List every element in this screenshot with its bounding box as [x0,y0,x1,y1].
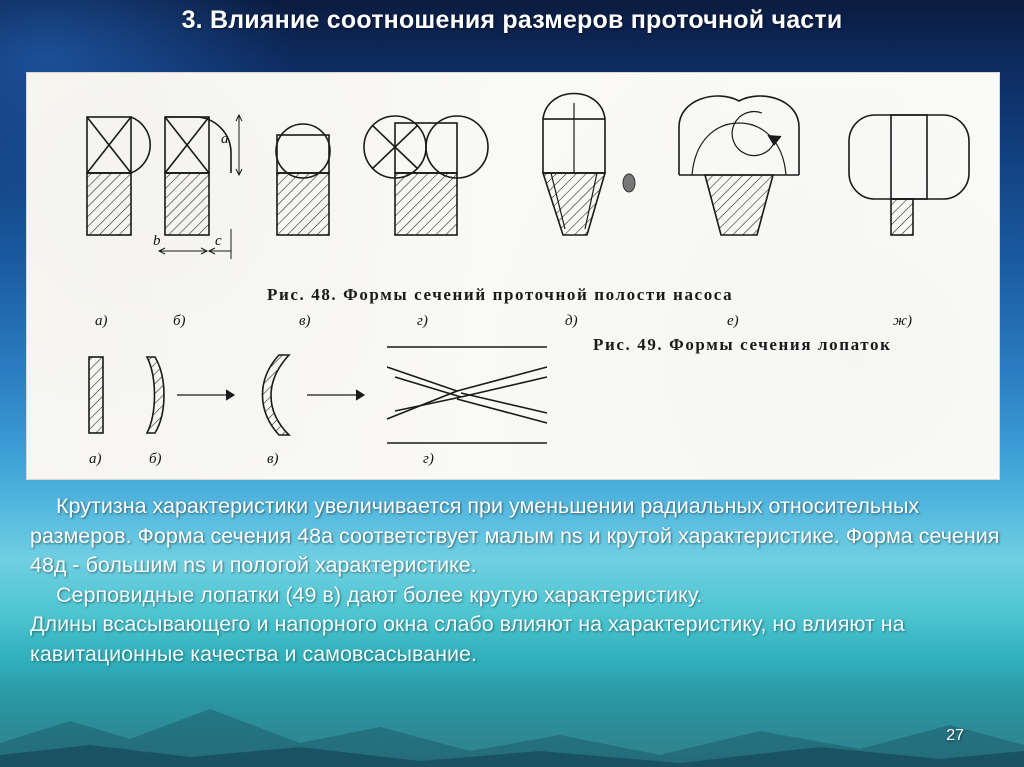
dimension-label-a: a [221,131,229,148]
page-number: 27 [946,727,964,745]
dimension-label-c: c [215,233,222,250]
fig49-label-a: а) [89,451,102,468]
fig48-label-v: в) [299,313,311,330]
page-title: 3. Влияние соотношения размеров проточно… [0,6,1024,35]
figure-48-caption: Рис. 48. Формы сечений проточной полости… [267,285,733,305]
fig48-label-a: а) [95,313,108,330]
slide-root: 3. Влияние соотношения размеров проточно… [0,0,1024,767]
dimension-label-b: b [153,233,161,250]
body-paragraph-3: Длины всасывающего и напорного окна слаб… [30,610,1002,669]
fig48-label-g: г) [417,313,428,330]
fig49-label-g: г) [423,451,434,468]
fig48-label-zh: ж) [893,313,912,330]
body-text-block: Крутизна характеристики увеличивается пр… [30,492,1002,669]
fig48-label-d: д) [565,313,578,330]
figure-49-drawing [27,333,999,463]
body-paragraph-2: Серповидные лопатки (49 в) дают более кр… [30,581,1002,611]
figure-image-panel: а) б) в) г) д) е) ж) a b c Рис. 48. Форм… [26,72,1000,480]
figure-48-drawing [27,79,999,309]
fig48-label-e: е) [727,313,739,330]
fig49-label-v: в) [267,451,279,468]
body-paragraph-1: Крутизна характеристики увеличивается пр… [30,492,1002,581]
fig48-label-b: б) [173,313,186,330]
fig49-label-b: б) [149,451,162,468]
